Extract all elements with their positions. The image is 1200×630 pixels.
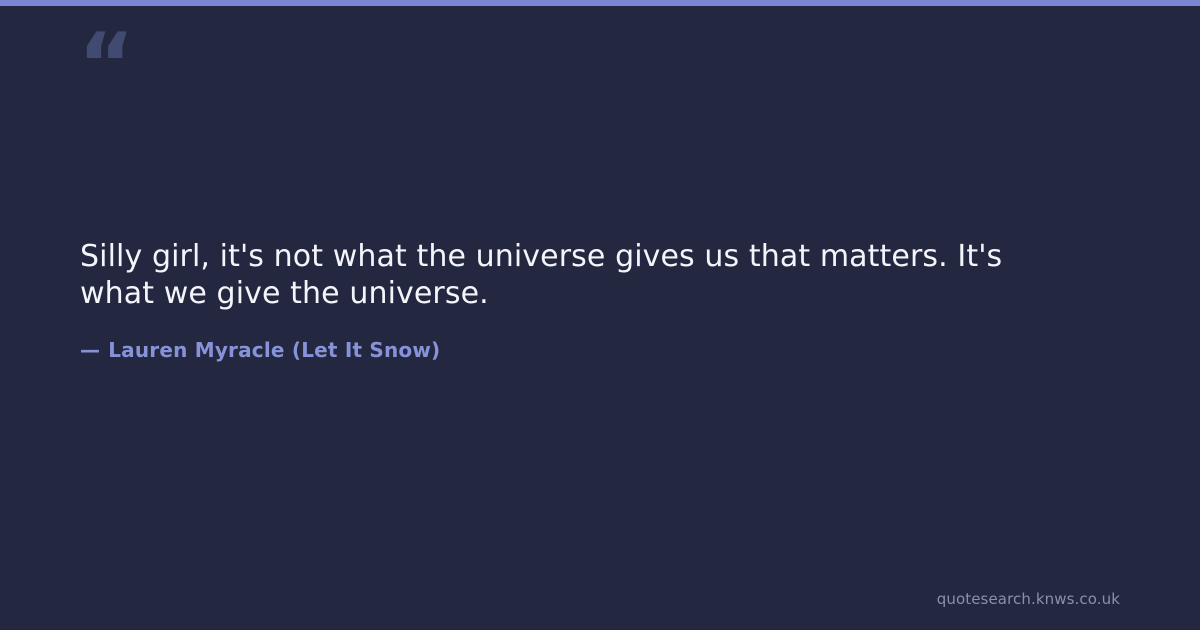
top-accent-bar: [0, 0, 1200, 6]
quotation-mark-icon: “: [78, 22, 133, 108]
attribution-name: Lauren Myracle (Let It Snow): [108, 338, 440, 362]
quote-content: Silly girl, it's not what the universe g…: [80, 238, 1120, 362]
quote-text: Silly girl, it's not what the universe g…: [80, 238, 1080, 312]
attribution-dash: —: [80, 338, 100, 362]
quote-attribution: —Lauren Myracle (Let It Snow): [80, 338, 1120, 362]
quote-card: “ Silly girl, it's not what the universe…: [0, 0, 1200, 630]
footer-site-url: quotesearch.knws.co.uk: [937, 590, 1120, 608]
